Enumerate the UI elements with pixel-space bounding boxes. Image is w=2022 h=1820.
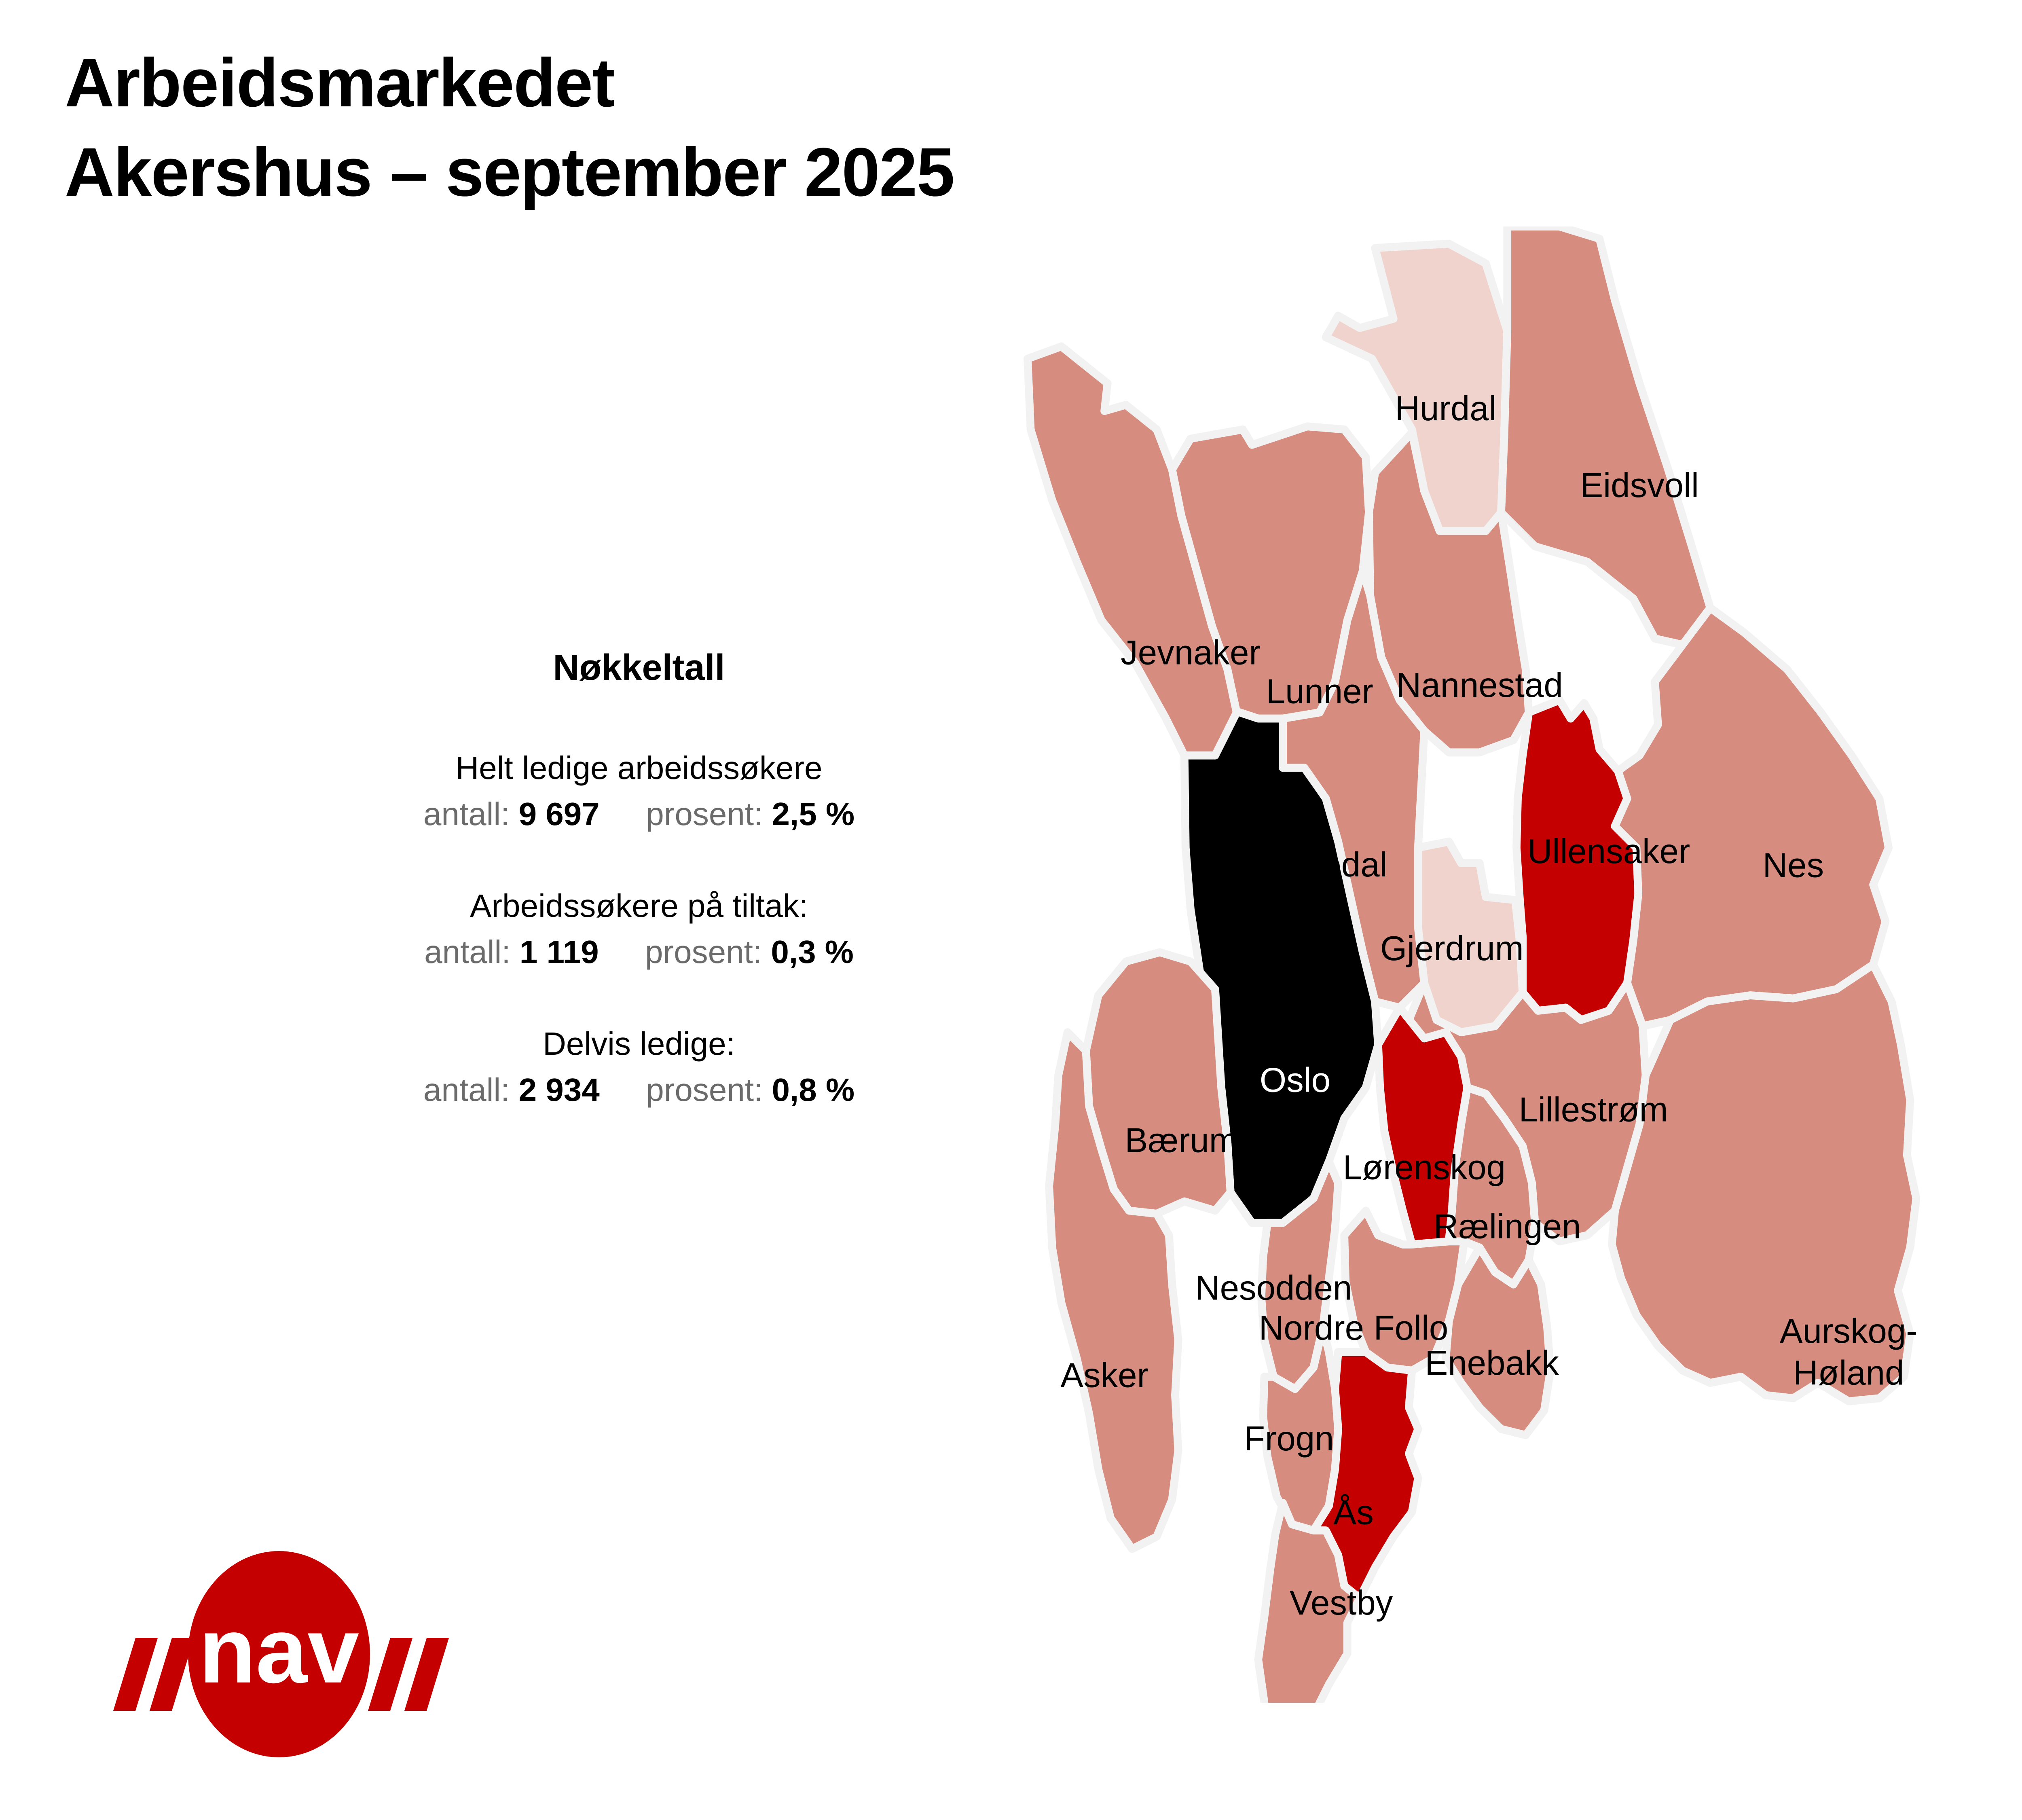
page-title: Arbeidsmarkedet Akershus – september 202… — [65, 38, 1440, 217]
map-label-oslo: Oslo — [1260, 1061, 1330, 1100]
percent-label: prosent: — [646, 796, 763, 832]
akershus-choropleth-map: Hurdal Eidsvoll Jevnaker Lunner Nannesta… — [930, 226, 2022, 1703]
key-figure-label: Delvis ledige: — [315, 1025, 962, 1062]
map-label-nes: Nes — [1763, 847, 1824, 885]
map-label-holand: Høland — [1793, 1354, 1904, 1392]
key-figure-values: antall: 9 697 prosent: 2,5 % — [315, 796, 962, 833]
map-label-frogn: Frogn — [1244, 1420, 1334, 1458]
title-line-2: Akershus – september 2025 — [65, 128, 1440, 217]
key-figure-block-unemployed: Helt ledige arbeidssøkere antall: 9 697 … — [315, 749, 962, 833]
percent-value: 2,5 % — [772, 796, 855, 832]
map-label-baerum: Bærum — [1125, 1122, 1238, 1160]
key-figures-panel: Nøkkeltall Helt ledige arbeidssøkere ant… — [315, 647, 962, 1163]
map-label-asker: Asker — [1060, 1357, 1148, 1395]
map-label-nittedal: Nittedal — [1271, 846, 1387, 884]
logo-wordmark: nav — [199, 1598, 359, 1702]
key-figure-block-measures: Arbeidssøkere på tiltak: antall: 1 119 p… — [315, 887, 962, 971]
count-label: antall: — [423, 1072, 510, 1108]
map-label-lunner: Lunner — [1266, 672, 1373, 711]
percent-label: prosent: — [645, 934, 762, 970]
key-figure-values: antall: 2 934 prosent: 0,8 % — [315, 1071, 962, 1109]
map-label-as: Ås — [1333, 1494, 1373, 1532]
map-label-lillestrom: Lillestrøm — [1519, 1091, 1668, 1129]
key-figure-values: antall: 1 119 prosent: 0,3 % — [315, 933, 962, 971]
count-value: 9 697 — [519, 796, 600, 832]
map-label-raelingen: Rælingen — [1434, 1207, 1581, 1246]
key-figure-label: Arbeidssøkere på tiltak: — [315, 887, 962, 925]
map-label-hurdal: Hurdal — [1395, 389, 1497, 428]
count-label: antall: — [424, 934, 510, 970]
logo-slash-left-icon — [113, 1638, 194, 1711]
logo-slash-right-icon — [368, 1638, 449, 1711]
count-value: 2 934 — [519, 1072, 600, 1108]
map-label-vestby: Vestby — [1290, 1584, 1393, 1622]
title-line-1: Arbeidsmarkedet — [65, 38, 1440, 128]
map-region-eidsvoll[interactable] — [1501, 226, 1710, 645]
key-figure-block-partial: Delvis ledige: antall: 2 934 prosent: 0,… — [315, 1025, 962, 1109]
map-label-lorenskog: Lørenskog — [1343, 1148, 1506, 1187]
map-label-jevnaker: Jevnaker — [1121, 634, 1261, 672]
map-label-gjerdrum: Gjerdrum — [1380, 929, 1524, 968]
nav-logo: nav — [101, 1549, 457, 1759]
key-figures-heading: Nøkkeltall — [315, 647, 962, 689]
percent-value: 0,8 % — [772, 1072, 855, 1108]
percent-value: 0,3 % — [771, 934, 854, 970]
percent-label: prosent: — [646, 1072, 763, 1108]
count-value: 1 119 — [520, 934, 599, 970]
count-label: antall: — [423, 796, 510, 832]
map-label-aurskog: Aurskog- — [1780, 1312, 1918, 1350]
map-label-eidsvoll: Eidsvoll — [1580, 466, 1698, 505]
map-region-enebakk[interactable] — [1446, 1248, 1550, 1435]
key-figure-label: Helt ledige arbeidssøkere — [315, 749, 962, 787]
map-label-enebakk: Enebakk — [1425, 1344, 1559, 1382]
map-label-nordre-follo: Nordre Follo — [1259, 1309, 1449, 1347]
map-label-nannestad: Nannestad — [1396, 666, 1563, 705]
map-label-ullensaker: Ullensaker — [1527, 832, 1690, 871]
map-label-nesodden: Nesodden — [1195, 1269, 1352, 1308]
map-region-nes[interactable] — [1615, 608, 1889, 1026]
